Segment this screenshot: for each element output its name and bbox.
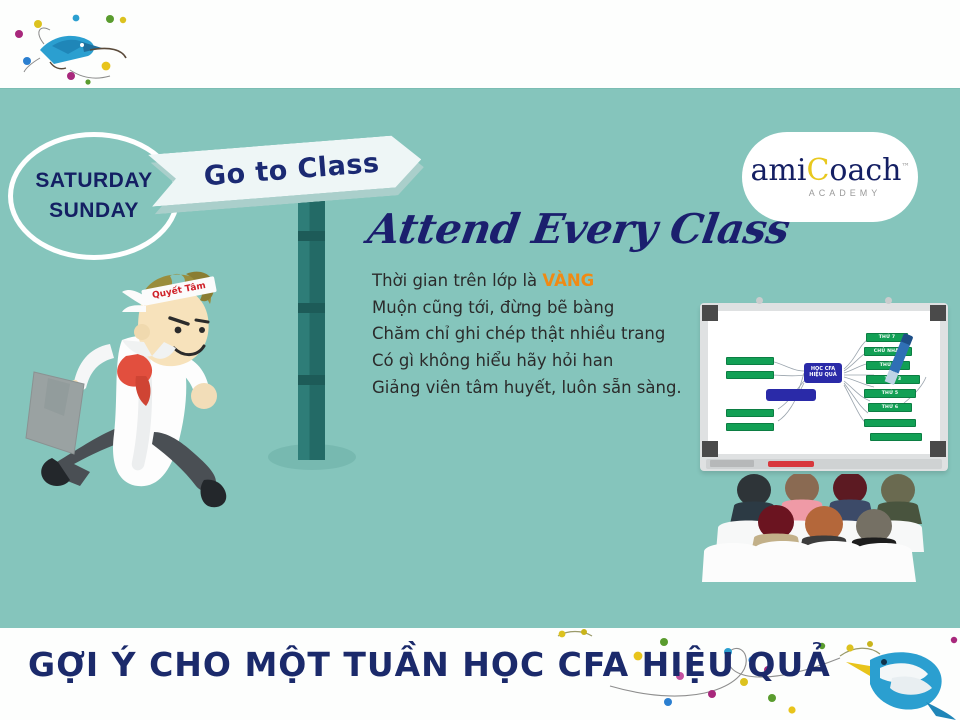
poem-line-4: Có gì không hiểu hãy hỏi han <box>372 348 702 375</box>
logo-subtitle: ACADEMY <box>809 188 882 198</box>
whiteboard-corner-br <box>930 441 946 457</box>
whiteboard: HỌC CFA HIỆU QUẢ THỨ 7 CHỦ NHẬT THỨ 2 TH… <box>700 303 948 471</box>
mindmap-node-left-3 <box>726 409 774 417</box>
mindmap-node-right-extra-2 <box>870 433 922 441</box>
whiteboard-tray <box>706 459 942 469</box>
headline-attend-every-class: Attend Every Class <box>364 205 712 257</box>
whiteboard-eraser <box>710 460 754 467</box>
poem-line-2: Muộn cũng tới, đừng bẽ bàng <box>372 295 702 322</box>
poem-line-1: Thời gian trên lớp là VÀNG <box>372 268 702 295</box>
poem-highlight-vang: VÀNG <box>542 271 594 290</box>
poster-bottom-title: GỢI Ý CHO MỘT TUẦN HỌC CFA HIỆU QUẢ <box>28 645 831 684</box>
logo-trademark: ™ <box>901 162 909 171</box>
logo-part-ami: ami <box>751 153 807 188</box>
poem-line-3: Chăm chỉ ghi chép thật nhiều trang <box>372 321 702 348</box>
student-audience-illustration <box>700 474 950 584</box>
mindmap-center-node: HỌC CFA HIỆU QUẢ <box>804 363 842 383</box>
whiteboard-corner-tl <box>702 305 718 321</box>
poem-block: Thời gian trên lớp là VÀNG Muộn cũng tới… <box>372 268 702 402</box>
mindmap-day-node-2: THỨ 2 <box>866 361 910 370</box>
mindmap-node-left-2 <box>726 371 774 379</box>
whiteboard-corner-bl <box>702 441 718 457</box>
mindmap-day-node-4: THỨ 5 <box>864 389 916 398</box>
mindmap-node-right-extra-1 <box>864 419 916 427</box>
whiteboard-red-marker <box>768 461 814 467</box>
mindmap-node-left-4 <box>726 423 774 431</box>
perched-bird-decoration <box>10 6 270 86</box>
mindmap-node-left-blue <box>766 389 816 401</box>
amicoach-logo: amiCoach™ ACADEMY <box>742 132 918 222</box>
logo-part-c: C <box>806 153 829 188</box>
poem-line-5: Giảng viên tâm huyết, luôn sẵn sàng. <box>372 375 702 402</box>
mindmap-day-node-5: THỨ 6 <box>868 403 912 412</box>
mindmap-center-line-2: HIỆU QUẢ <box>809 373 836 379</box>
logo-wordmark: amiCoach™ <box>751 156 910 186</box>
poster-canvas: SATURDAY SUNDAY Go to Class <box>0 0 960 720</box>
logo-part-oach: oach <box>829 153 901 188</box>
day-circle-line-1: SATURDAY <box>35 166 152 196</box>
whiteboard-corner-tr <box>930 305 946 321</box>
sign-label: Go to Class <box>203 147 381 192</box>
day-circle-line-2: SUNDAY <box>49 196 139 226</box>
mindmap-node-left-1 <box>726 357 774 365</box>
signpost-pole <box>298 185 325 460</box>
whiteboard-surface: HỌC CFA HIỆU QUẢ THỨ 7 CHỦ NHẬT THỨ 2 TH… <box>708 311 940 454</box>
